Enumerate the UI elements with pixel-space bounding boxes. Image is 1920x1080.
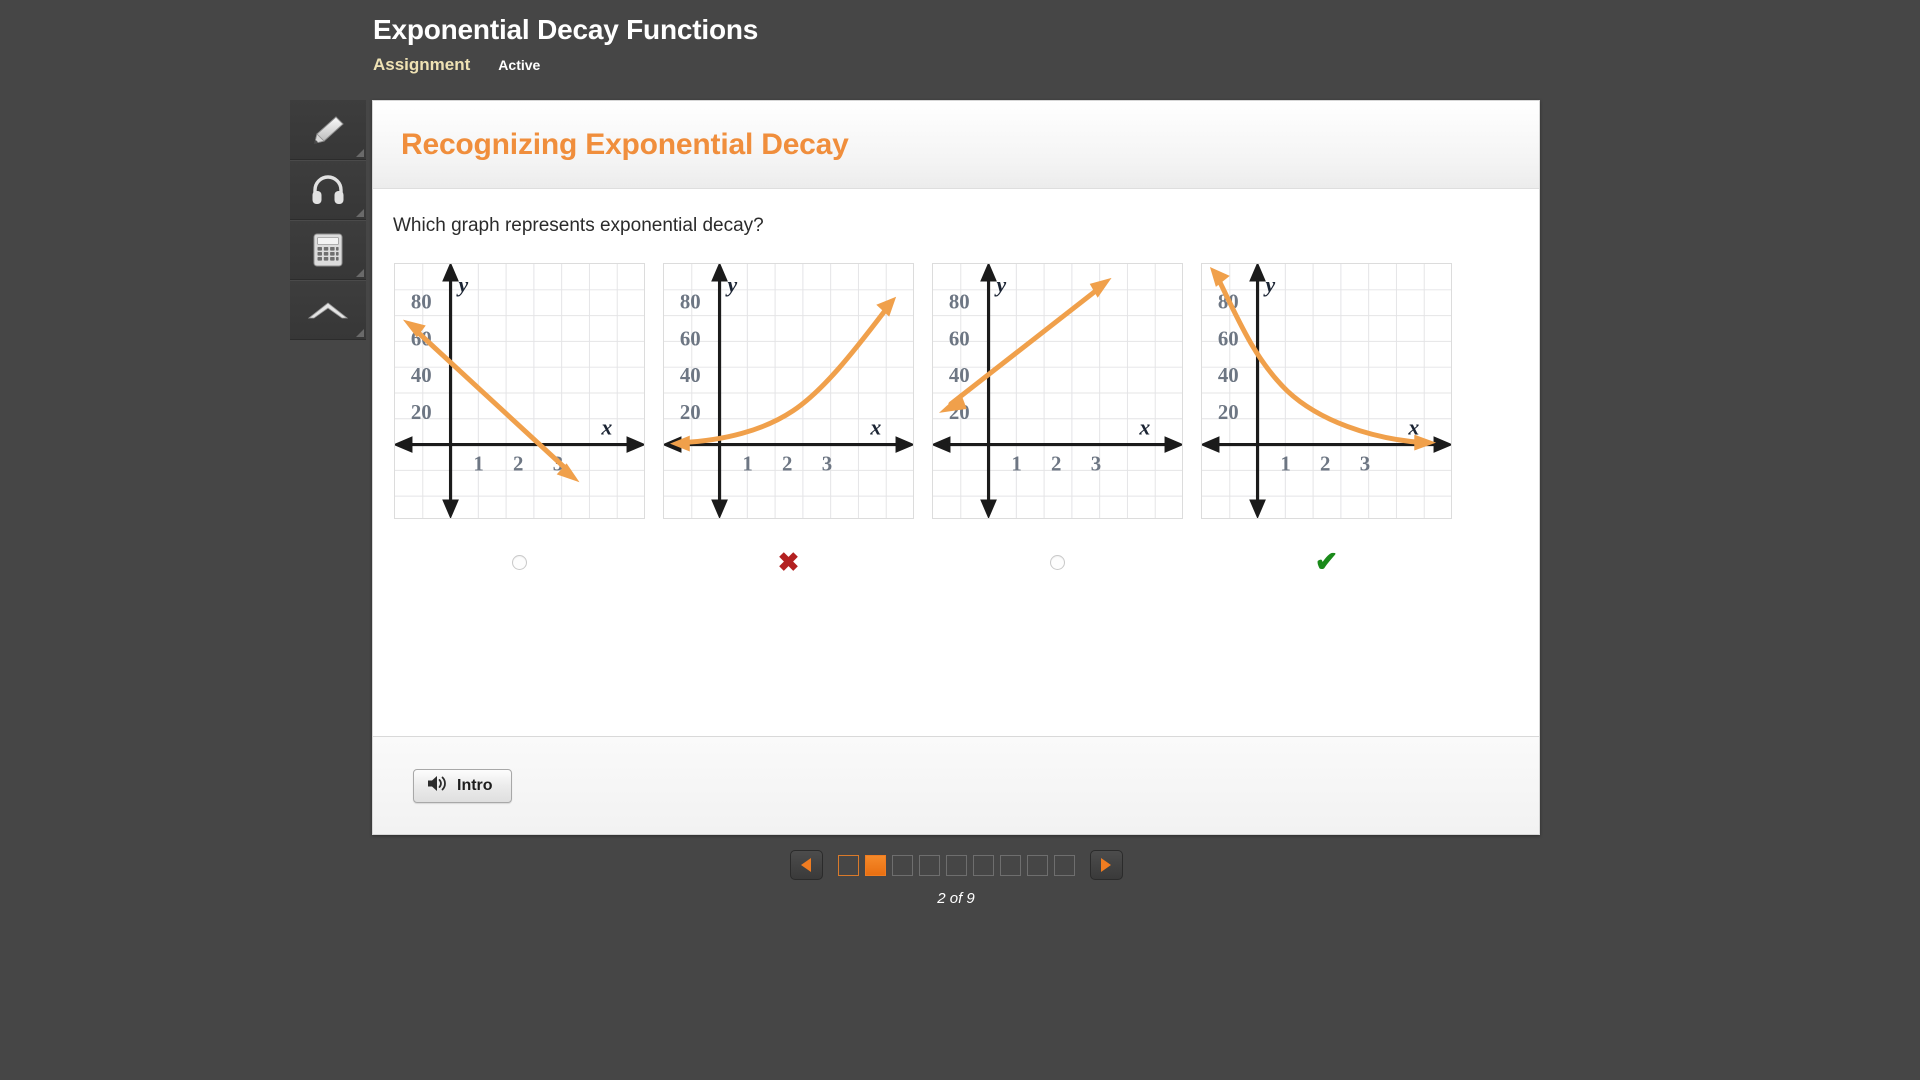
svg-text:40: 40 (1218, 363, 1239, 387)
calculator-icon (312, 232, 344, 268)
svg-text:1: 1 (1280, 451, 1290, 475)
svg-text:20: 20 (1218, 400, 1239, 424)
audio-tool[interactable] (290, 160, 366, 220)
header-tabs: Assignment Active (373, 54, 1373, 76)
answer-cell-c (932, 545, 1183, 579)
graph-option-c[interactable]: 8060 4020 123 yx (932, 263, 1183, 519)
radio-option-c[interactable] (1050, 555, 1065, 570)
page-dot-5[interactable] (946, 855, 967, 876)
svg-text:1: 1 (742, 451, 752, 475)
page-dot-7[interactable] (1000, 855, 1021, 876)
caret-up-icon (306, 297, 350, 323)
graph-option-b[interactable]: 8060 4020 123 yx (663, 263, 914, 519)
card-body: Which graph represents exponential decay… (373, 189, 1539, 736)
svg-text:1: 1 (1011, 451, 1021, 475)
card-header: Recognizing Exponential Decay (373, 101, 1539, 189)
svg-text:60: 60 (680, 326, 701, 350)
page-header: Exponential Decay Functions Assignment A… (373, 10, 1373, 76)
graph-d-frame: 8060 4020 123 yx (1201, 263, 1452, 519)
incorrect-mark-b: ✖ (778, 549, 800, 575)
intro-audio-button[interactable]: Intro (413, 769, 512, 803)
prev-page-button[interactable] (790, 850, 823, 880)
svg-text:3: 3 (822, 451, 832, 475)
svg-text:x: x (600, 416, 612, 440)
app-root: Exponential Decay Functions Assignment A… (0, 0, 1920, 1080)
page-dot-3[interactable] (892, 855, 913, 876)
graph-d-chart: 8060 4020 123 yx (1202, 264, 1451, 518)
intro-label: Intro (457, 777, 493, 795)
question-card: Recognizing Exponential Decay Which grap… (372, 100, 1540, 835)
next-page-button[interactable] (1090, 850, 1123, 880)
page-dot-8[interactable] (1027, 855, 1048, 876)
svg-text:x: x (869, 416, 881, 440)
graph-a-chart: 8060 4020 123 yx (395, 264, 644, 518)
svg-text:2: 2 (782, 451, 792, 475)
svg-text:3: 3 (1360, 451, 1370, 475)
answer-options: ✖ ✔ (394, 545, 1519, 579)
svg-text:20: 20 (411, 400, 432, 424)
svg-text:40: 40 (411, 363, 432, 387)
graph-options: 8060 4020 123 yx (394, 263, 1519, 519)
pagination: 2 of 9 (372, 850, 1540, 907)
svg-text:y: y (1262, 273, 1275, 297)
chevron-right-icon (1101, 858, 1111, 872)
svg-text:y: y (455, 273, 468, 297)
answer-cell-d: ✔ (1201, 545, 1452, 579)
correct-mark-d: ✔ (1315, 548, 1338, 576)
svg-text:80: 80 (949, 290, 970, 314)
question-prompt: Which graph represents exponential decay… (393, 215, 1519, 237)
svg-text:2: 2 (513, 451, 523, 475)
svg-text:40: 40 (680, 363, 701, 387)
graph-a-frame: 8060 4020 123 yx (394, 263, 645, 519)
chevron-left-icon (801, 858, 811, 872)
graph-c-chart: 8060 4020 123 yx (933, 264, 1182, 518)
page-dot-9[interactable] (1054, 855, 1075, 876)
svg-text:80: 80 (411, 290, 432, 314)
pagination-row (790, 850, 1123, 880)
page-dots (838, 855, 1075, 876)
collapse-tool[interactable] (290, 280, 366, 340)
graph-option-d[interactable]: 8060 4020 123 yx (1201, 263, 1452, 519)
svg-text:y: y (993, 273, 1006, 297)
answer-cell-b: ✖ (663, 545, 914, 579)
svg-text:60: 60 (1218, 326, 1239, 350)
card-title: Recognizing Exponential Decay (401, 128, 849, 162)
svg-text:40: 40 (949, 363, 970, 387)
highlighter-tool[interactable] (290, 100, 366, 160)
svg-text:y: y (724, 273, 737, 297)
headphones-icon (310, 174, 346, 206)
tool-rail (290, 100, 366, 340)
svg-text:2: 2 (1051, 451, 1061, 475)
answer-cell-a (394, 545, 645, 579)
graph-option-a[interactable]: 8060 4020 123 yx (394, 263, 645, 519)
speaker-icon (426, 774, 448, 798)
page-dot-2[interactable] (865, 855, 886, 876)
page-dot-1[interactable] (838, 855, 859, 876)
page-dot-6[interactable] (973, 855, 994, 876)
svg-text:x: x (1138, 416, 1150, 440)
graph-c-frame: 8060 4020 123 yx (932, 263, 1183, 519)
svg-text:60: 60 (949, 326, 970, 350)
graph-b-chart: 8060 4020 123 yx (664, 264, 913, 518)
page-title: Exponential Decay Functions (373, 10, 1373, 50)
radio-option-a[interactable] (512, 555, 527, 570)
status-badge-active: Active (498, 54, 540, 76)
svg-text:20: 20 (680, 400, 701, 424)
calculator-tool[interactable] (290, 220, 366, 280)
highlighter-icon (309, 113, 347, 147)
page-counter: 2 of 9 (937, 890, 975, 907)
graph-b-frame: 8060 4020 123 yx (663, 263, 914, 519)
svg-text:80: 80 (680, 290, 701, 314)
svg-text:1: 1 (473, 451, 483, 475)
svg-text:2: 2 (1320, 451, 1330, 475)
page-dot-4[interactable] (919, 855, 940, 876)
card-footer: Intro (373, 736, 1539, 834)
svg-text:3: 3 (1091, 451, 1101, 475)
tab-assignment[interactable]: Assignment (373, 54, 470, 76)
